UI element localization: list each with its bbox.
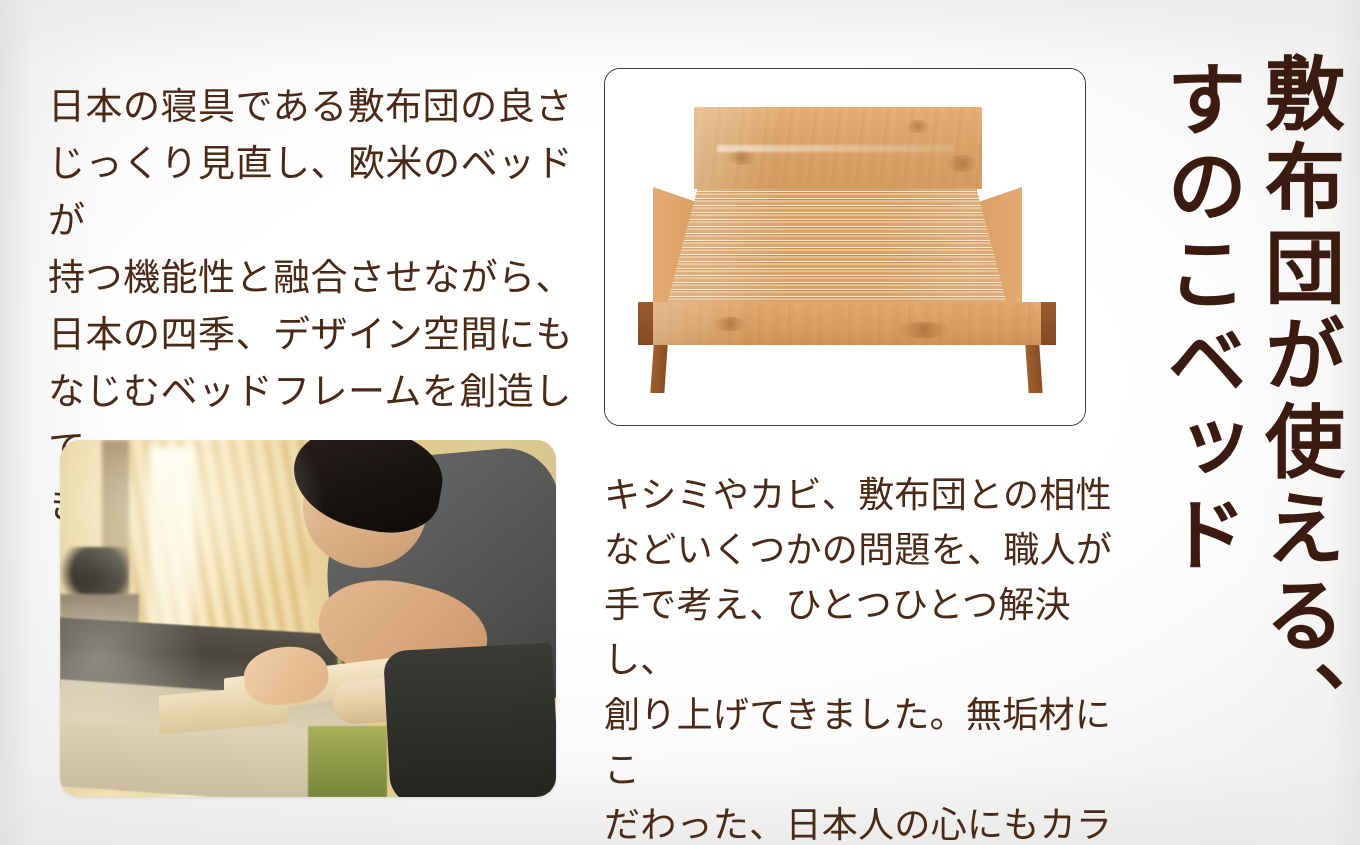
bed-photo-frame bbox=[604, 68, 1086, 426]
detail-paragraph: キシミやカビ、敷布団との相性 などいくつかの問題を、職人が 手で考え、ひとつひと… bbox=[604, 467, 1114, 845]
wood-knot-icon bbox=[907, 120, 929, 133]
bed-slats-sunoko bbox=[667, 188, 1007, 304]
wood-knot-icon bbox=[897, 322, 951, 338]
craftsman-photo bbox=[60, 440, 556, 797]
workshop-window-light bbox=[149, 447, 194, 647]
wood-knot-icon bbox=[729, 150, 755, 165]
poster-root: 日本の寝具である敷布団の良さ じっくり見直し、欧米のベッドが 持つ機能性と融合さ… bbox=[0, 0, 1360, 845]
vertical-headline: すのこベッド 敷布団が使える、 bbox=[1160, 52, 1338, 748]
bed-corner-post-left bbox=[638, 302, 653, 345]
bed-headboard bbox=[694, 107, 982, 189]
headline-line-right: 敷布団が使える、 bbox=[1258, 52, 1338, 748]
craftsman-apron bbox=[383, 643, 556, 797]
bed-photo-illustration bbox=[605, 69, 1085, 425]
bed-leg-left bbox=[650, 345, 667, 393]
bed-leg-right bbox=[1025, 345, 1042, 393]
headline-line-left: すのこベッド bbox=[1160, 58, 1240, 580]
wood-knot-icon bbox=[947, 155, 977, 172]
green-machine-part-front bbox=[308, 726, 387, 797]
wood-knot-icon bbox=[713, 317, 747, 331]
bed-footboard bbox=[638, 302, 1056, 345]
bed-corner-post-right bbox=[1041, 302, 1056, 345]
